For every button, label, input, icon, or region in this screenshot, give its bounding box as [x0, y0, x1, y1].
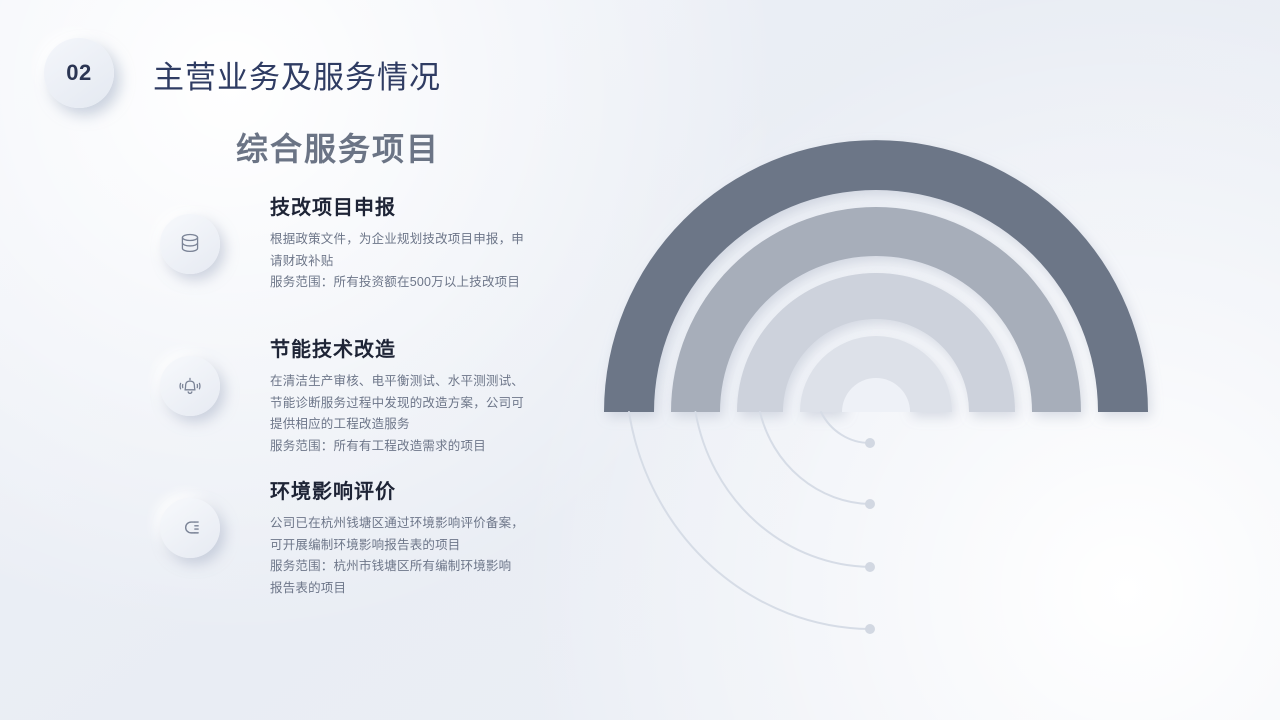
legend-connector-dot	[865, 562, 875, 572]
database-icon	[160, 214, 220, 274]
legend-connector-dot	[865, 438, 875, 448]
feature-scope: 服务范围：杭州市钱塘区所有编制环境影响 报告表的项目	[270, 556, 590, 599]
section-heading: 综合服务项目	[236, 124, 440, 170]
feature-scope: 服务范围：所有投资额在500万以上技改项目	[270, 272, 590, 294]
feature-title: 节能技术改造	[270, 338, 590, 362]
feature-description: 在清洁生产审核、电平衡测试、水平测测试、 节能诊断服务过程中发现的改造方案，公司…	[270, 371, 590, 436]
section-number-badge: 02	[44, 38, 114, 108]
list-item: 节能技术改造 在清洁生产审核、电平衡测试、水平测测试、 节能诊断服务过程中发现的…	[160, 338, 590, 458]
feature-title: 技改项目申报	[270, 196, 590, 220]
magnet-icon	[160, 498, 220, 558]
section-number: 02	[66, 60, 91, 86]
legend-connector-dot	[865, 624, 875, 634]
feature-scope: 服务范围：所有有工程改造需求的项目	[270, 436, 590, 458]
arc-chart-svg	[560, 100, 1260, 680]
slide-root: 02 主营业务及服务情况 综合服务项目 技改项目申报 根据政策文件，为企业规划技…	[0, 0, 1280, 720]
feature-title: 环境影响评价	[270, 480, 590, 504]
list-item: 环境影响评价 公司已在杭州钱塘区通过环境影响评价备案， 可开展编制环境影响报告表…	[160, 480, 590, 600]
bell-ring-icon	[160, 356, 220, 416]
list-item: 技改项目申报 根据政策文件，为企业规划技改项目申报，申 请财政补贴 服务范围：所…	[160, 196, 590, 316]
legend-connector-line	[821, 412, 870, 443]
feature-text: 环境影响评价 公司已在杭州钱塘区通过环境影响评价备案， 可开展编制环境影响报告表…	[270, 480, 590, 599]
feature-list: 技改项目申报 根据政策文件，为企业规划技改项目申报，申 请财政补贴 服务范围：所…	[160, 196, 590, 600]
page-title: 主营业务及服务情况	[153, 52, 441, 97]
protection-arc-chart: 25% PROTECTED 50% PROTECTED 75% PROTECTE…	[560, 100, 1260, 680]
feature-description: 根据政策文件，为企业规划技改项目申报，申 请财政补贴	[270, 229, 590, 272]
feature-text: 技改项目申报 根据政策文件，为企业规划技改项目申报，申 请财政补贴 服务范围：所…	[270, 196, 590, 294]
legend-connector-line	[760, 412, 870, 504]
legend-connector-line	[629, 412, 870, 629]
legend-connector-dot	[865, 499, 875, 509]
feature-description: 公司已在杭州钱塘区通过环境影响评价备案， 可开展编制环境影响报告表的项目	[270, 513, 590, 556]
feature-text: 节能技术改造 在清洁生产审核、电平衡测试、水平测测试、 节能诊断服务过程中发现的…	[270, 338, 590, 457]
